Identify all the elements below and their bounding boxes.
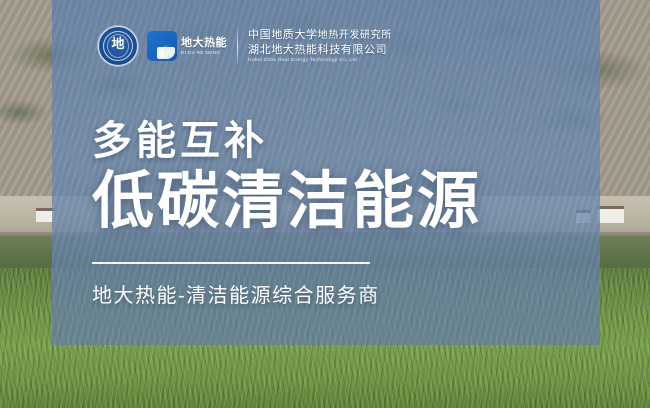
brand-name-block: 地大热能 DI DA RE NENG [181, 37, 227, 56]
hero-text-block: 多能互补 低碳清洁能源 [92, 118, 482, 238]
promo-banner: 地 地大热能 DI DA RE NENG 中国地质大学地热开发研究所 湖北地大热… [0, 0, 650, 408]
org-line-3-english: Hubei DiDa Heat Energy Technology Co.,Lt… [248, 57, 392, 65]
hero-tagline: 地大热能-清洁能源综合服务商 [92, 282, 380, 310]
seal-glyph: 地 [99, 38, 137, 51]
brand-name-en: DI DA RE NENG [181, 50, 227, 56]
org-line-2: 湖北地大热能科技有限公司 [248, 43, 392, 57]
vertical-divider [237, 29, 238, 63]
brand-name-cn: 地大热能 [181, 37, 227, 49]
organization-text-block: 中国地质大学地热开发研究所 湖北地大热能科技有限公司 Hubei DiDa He… [248, 28, 392, 65]
logo-swoosh-icon [157, 47, 175, 59]
brand-lockup: 地 地大热能 DI DA RE NENG 中国地质大学地热开发研究所 湖北地大热… [98, 24, 392, 68]
org-line-1: 中国地质大学地热开发研究所 [248, 28, 392, 43]
org-university-name: 中国地质大学 [248, 29, 318, 41]
org-institute-name: 地热开发研究所 [318, 30, 392, 41]
hero-heading: 低碳清洁能源 [92, 166, 482, 238]
hero-divider-rule [92, 262, 370, 264]
university-seal-icon: 地 [98, 26, 138, 66]
hero-subheading: 多能互补 [92, 118, 482, 164]
building-icon [598, 206, 624, 223]
didareneng-logo-icon [147, 31, 177, 61]
